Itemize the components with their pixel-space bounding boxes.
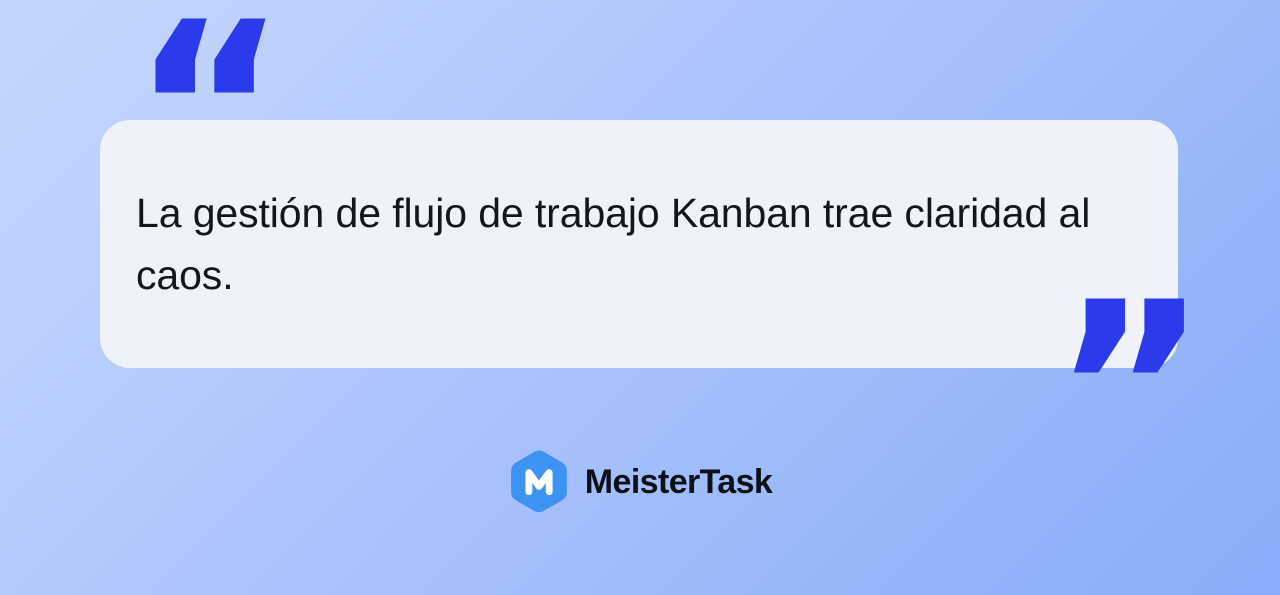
brand-lockup: MeisterTask	[0, 450, 1280, 514]
brand-name: MeisterTask	[585, 463, 772, 502]
meistertask-logo-icon	[508, 450, 570, 514]
quote-graphic: “ La gestión de flujo de trabajo Kanban …	[0, 0, 1280, 595]
open-quote-icon: “	[131, 0, 287, 230]
